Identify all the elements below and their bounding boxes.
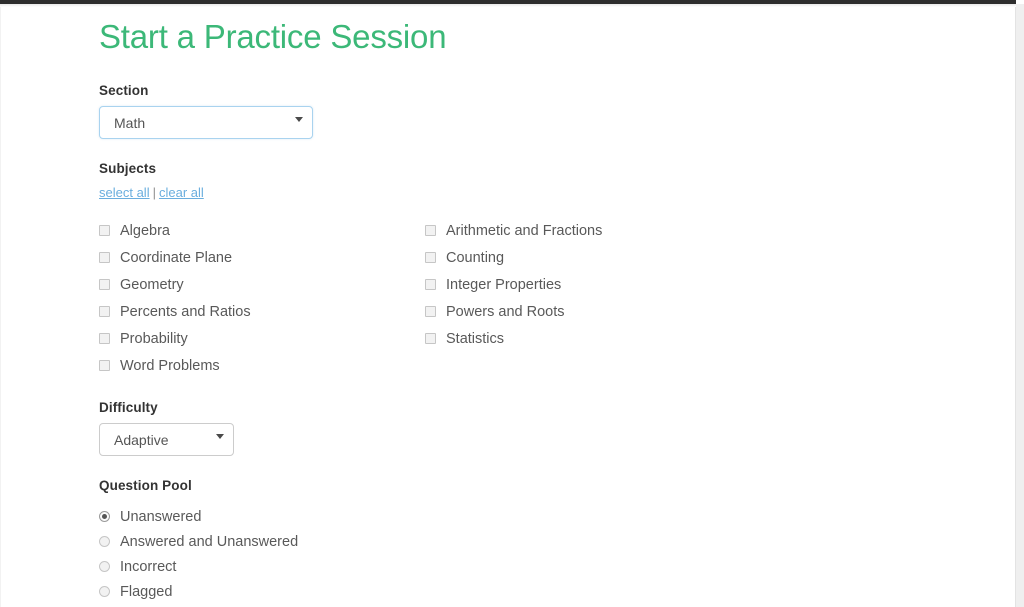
browser-viewport: Start a Practice Session Section Math Su… [0,0,1024,607]
subject-row[interactable]: Powers and Roots [425,298,751,325]
subject-row[interactable]: Counting [425,244,751,271]
subjects-label: Subjects [99,161,1008,176]
question-pool-row[interactable]: Unanswered [99,504,1008,529]
subject-checkbox-statistics[interactable] [425,333,436,344]
subject-checkbox-counting[interactable] [425,252,436,263]
question-pool-label: Question Pool [99,478,1008,493]
subject-label[interactable]: Statistics [446,330,504,348]
subjects-checkbox-grid: Algebra Coordinate Plane Geometry Percen… [99,217,859,379]
subject-label[interactable]: Counting [446,249,504,267]
difficulty-select-wrapper[interactable]: Adaptive [99,415,234,456]
subjects-column-left: Algebra Coordinate Plane Geometry Percen… [99,217,425,379]
section-select-wrapper[interactable]: Math [99,98,313,139]
subjects-bulk-actions: select all|clear all [99,185,1008,200]
question-pool-row[interactable]: Answered and Unanswered [99,529,1008,554]
subject-row[interactable]: Coordinate Plane [99,244,425,271]
subject-label[interactable]: Percents and Ratios [120,303,251,321]
page-title: Start a Practice Session [99,14,1008,60]
question-pool-row[interactable]: Flagged [99,579,1008,604]
section-label: Section [99,83,1008,98]
question-pool-option-label[interactable]: Answered and Unanswered [120,533,298,551]
browser-chrome-bar [0,0,1016,4]
question-pool-row[interactable]: Incorrect [99,554,1008,579]
subject-checkbox-percents-and-ratios[interactable] [99,306,110,317]
question-pool-radio-group: Unanswered Answered and Unanswered Incor… [99,504,1008,604]
practice-session-form: Start a Practice Session Section Math Su… [1,4,1008,607]
question-pool-option-label[interactable]: Flagged [120,583,172,601]
question-pool-radio-incorrect[interactable] [99,561,110,572]
subject-row[interactable]: Integer Properties [425,271,751,298]
page-body: Start a Practice Session Section Math Su… [1,4,1008,607]
subject-label[interactable]: Powers and Roots [446,303,564,321]
subject-row[interactable]: Geometry [99,271,425,298]
subject-row[interactable]: Arithmetic and Fractions [425,217,751,244]
difficulty-select[interactable]: Adaptive [99,423,234,456]
scrollbar-gutter[interactable] [1015,4,1024,607]
subject-row[interactable]: Statistics [425,325,751,352]
subject-row[interactable]: Word Problems [99,352,425,379]
subject-label[interactable]: Integer Properties [446,276,561,294]
section-select[interactable]: Math [99,106,313,139]
question-pool-option-label[interactable]: Incorrect [120,558,176,576]
subject-row[interactable]: Algebra [99,217,425,244]
subject-checkbox-coordinate-plane[interactable] [99,252,110,263]
subject-label[interactable]: Algebra [120,222,170,240]
question-pool-radio-answered-and-unanswered[interactable] [99,536,110,547]
subjects-column-right: Arithmetic and Fractions Counting Intege… [425,217,751,379]
question-pool-radio-unanswered[interactable] [99,511,110,522]
difficulty-label: Difficulty [99,400,1008,415]
subject-label[interactable]: Probability [120,330,188,348]
subject-checkbox-word-problems[interactable] [99,360,110,371]
clear-all-link[interactable]: clear all [159,185,204,200]
subject-label[interactable]: Coordinate Plane [120,249,232,267]
select-all-link[interactable]: select all [99,185,150,200]
subject-checkbox-geometry[interactable] [99,279,110,290]
subject-checkbox-arithmetic-and-fractions[interactable] [425,225,436,236]
question-pool-radio-flagged[interactable] [99,586,110,597]
subject-label[interactable]: Word Problems [120,357,220,375]
subject-checkbox-powers-and-roots[interactable] [425,306,436,317]
subject-row[interactable]: Percents and Ratios [99,298,425,325]
subject-label[interactable]: Geometry [120,276,184,294]
subject-checkbox-integer-properties[interactable] [425,279,436,290]
subject-checkbox-probability[interactable] [99,333,110,344]
question-pool-option-label[interactable]: Unanswered [120,508,201,526]
subject-checkbox-algebra[interactable] [99,225,110,236]
subject-label[interactable]: Arithmetic and Fractions [446,222,602,240]
browser-chrome-shadow [0,4,1016,7]
subject-row[interactable]: Probability [99,325,425,352]
link-separator: | [150,185,159,200]
